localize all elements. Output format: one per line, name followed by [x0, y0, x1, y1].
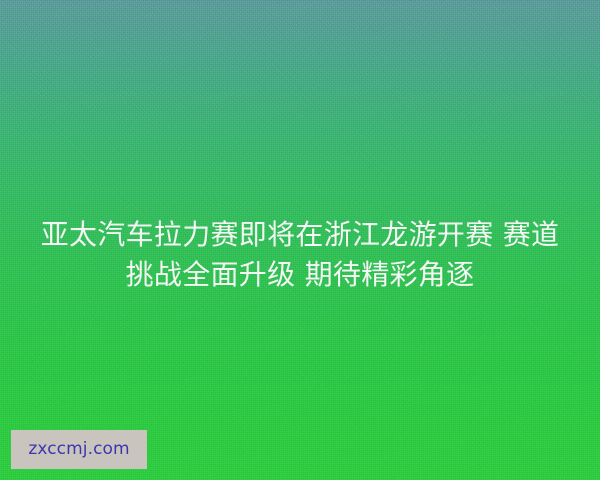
article-thumbnail-card: 亚太汽车拉力赛即将在浙江龙游开赛 赛道挑战全面升级 期待精彩角逐 zxccmj.…	[0, 0, 600, 480]
source-watermark-chip: zxccmj.com	[11, 430, 147, 469]
source-watermark-label: zxccmj.com	[28, 441, 129, 458]
page-title: 亚太汽车拉力赛即将在浙江龙游开赛 赛道挑战全面升级 期待精彩角逐	[0, 215, 600, 295]
